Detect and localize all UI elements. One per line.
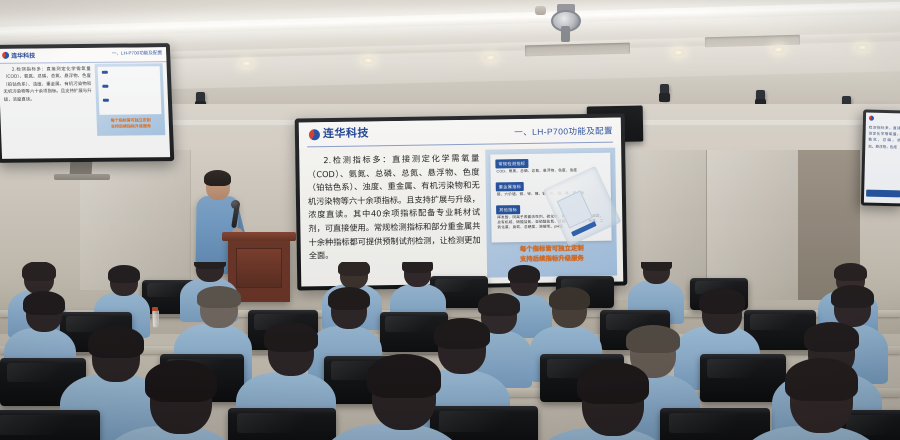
projector-arm	[561, 26, 570, 42]
company-logo-text: 连华科技	[11, 51, 35, 60]
desk-monitor[interactable]	[0, 410, 100, 440]
downlight	[240, 60, 253, 67]
spec-label	[102, 71, 108, 74]
smoke-detector-icon	[535, 6, 546, 15]
spec-section-label-2: 其他指标	[496, 205, 520, 215]
company-logo-text: 连华科技	[323, 126, 413, 141]
water-bottle-cap	[152, 307, 158, 311]
presenter-hair	[204, 170, 231, 186]
left-monitor-spec-card	[98, 66, 162, 115]
desk-monitor[interactable]	[660, 408, 770, 440]
right-monitor-footer-bar	[866, 190, 900, 198]
spec-section-label-0: 常规检测指标	[495, 159, 528, 169]
led-light-strip	[0, 1, 900, 39]
company-logo-icon	[869, 116, 874, 121]
track-spotlight	[660, 84, 669, 100]
left-monitor-section-title: 一、LH-P700功能及配置	[112, 50, 163, 57]
downlight	[772, 46, 785, 53]
left-monitor-base	[54, 174, 110, 180]
right-monitor-body-text: 检测指标多，直接测定化学需氧量，氨氮，总磷，总氮，悬浮物，色度	[868, 125, 900, 151]
spec-label	[102, 85, 108, 88]
left-monitor-panel: 每个指标皆可独立定制 支持后续指标升级服务	[95, 63, 166, 136]
spec-card: 常规检测指标 COD、氨氮、总磷、总氮、悬浮物、色度、浊度 重金属指标 铬、六价…	[490, 153, 611, 243]
left-wall-monitor[interactable]: 连华科技 一、LH-P700功能及配置 2.检测指标多：直接测定化学需氧量（CO…	[0, 43, 174, 163]
downlight	[484, 54, 497, 61]
downlight	[856, 44, 869, 51]
highlight-line-2: 支持后续指标升级服务	[100, 123, 162, 130]
right-monitor-screen: 检测指标多，直接测定化学需氧量，氨氮，总磷，总氮，悬浮物，色度	[864, 113, 900, 204]
slide-paragraph: 2.检测指标多：直接测定化学需氧量（COD）、氨氮、总磷、总氮、悬浮物、色度（铂…	[307, 152, 481, 263]
left-monitor-body-text: 2.检测指标多：直接测定化学需氧量（COD）、氨氮、总磷、总氮、悬浮物、色度（铂…	[3, 66, 92, 104]
audience-area	[0, 262, 900, 440]
company-logo-icon	[2, 52, 9, 59]
downlight	[362, 57, 375, 64]
podium-top	[222, 232, 296, 241]
conference-room-photo: 连华科技 一、LH-P700功能及配置 2.检测指标多：直接测定化学需氧量（CO…	[0, 0, 900, 440]
water-bottle	[152, 310, 159, 328]
left-monitor-screen: 连华科技 一、LH-P700功能及配置 2.检测指标多：直接测定化学需氧量（CO…	[0, 47, 170, 159]
downlight	[672, 49, 685, 56]
microphone-head	[231, 200, 240, 209]
desk-monitor[interactable]	[228, 408, 336, 440]
slide-spec-panel: 常规检测指标 COD、氨氮、总磷、总氮、悬浮物、色度、浊度 重金属指标 铬、六价…	[485, 148, 617, 278]
spec-section-label-1: 重金属指标	[496, 182, 525, 192]
right-wall-monitor[interactable]: 检测指标多，直接测定化学需氧量，氨氮，总磷，总氮，悬浮物，色度	[861, 109, 900, 206]
slide-section-title: 一、LH-P700功能及配置	[514, 125, 613, 139]
left-monitor-highlight: 每个指标皆可独立定制 支持后续指标升级服务	[100, 117, 162, 130]
spec-label	[103, 99, 109, 102]
device-display	[557, 190, 593, 228]
